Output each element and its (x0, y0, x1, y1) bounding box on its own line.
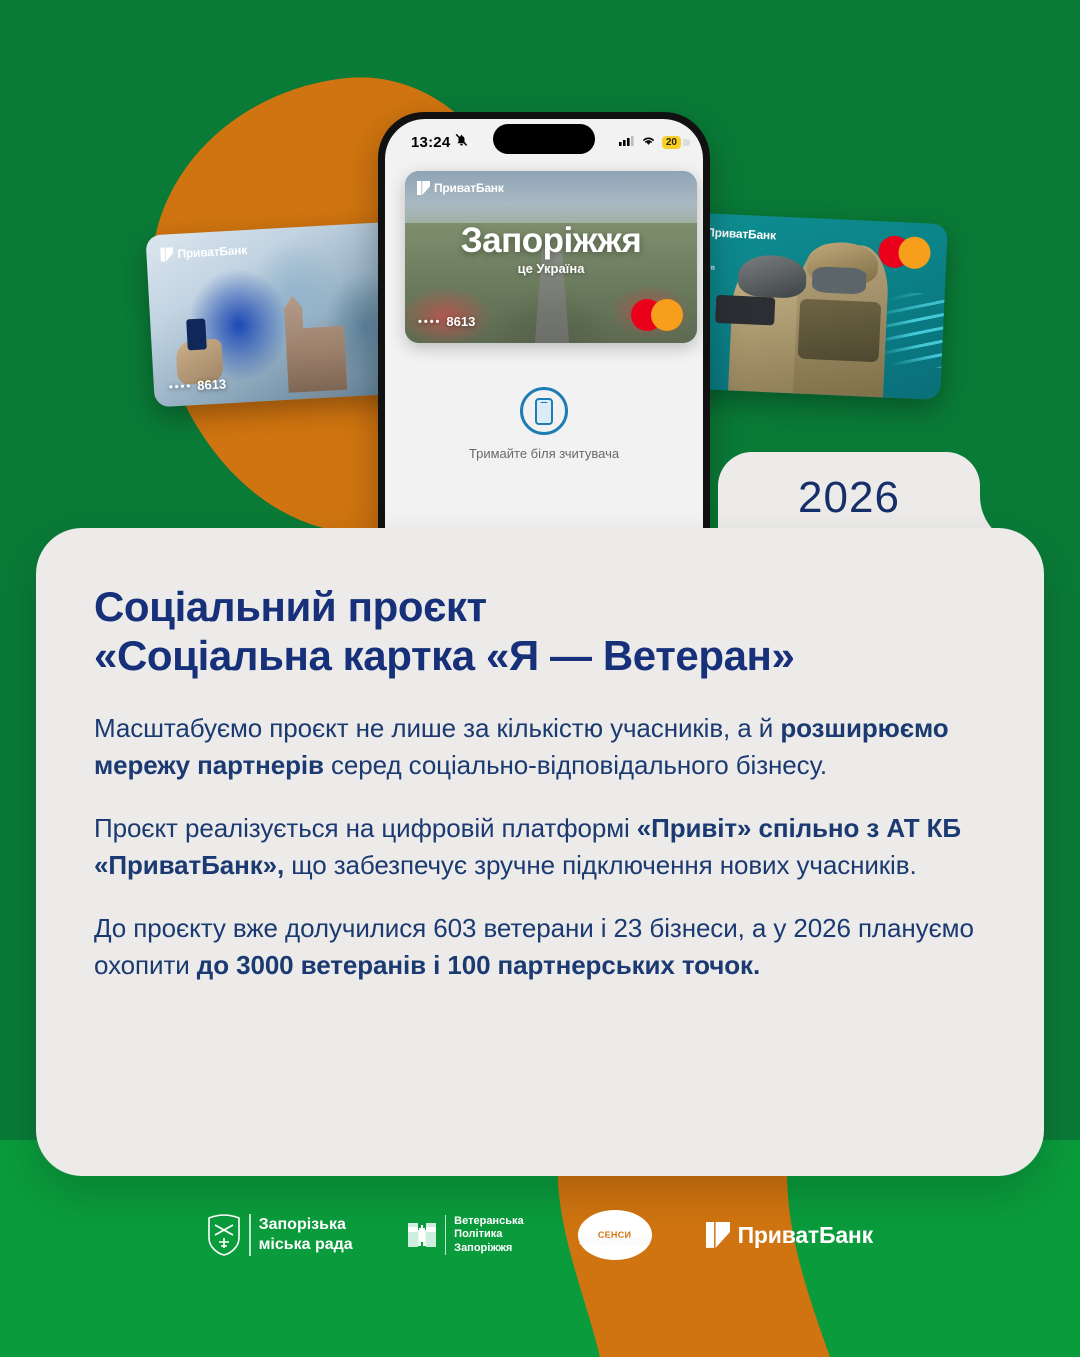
paragraph-2-run-1: Проєкт реалізується на цифровій платформ… (94, 813, 637, 843)
soldier-vest-graphic (797, 299, 881, 362)
nfc-hold-phone-icon (520, 387, 568, 435)
mastercard-yellow-circle (651, 299, 683, 331)
status-bar-left: 13:24 (411, 133, 468, 152)
privatbank-mark-icon (706, 1222, 730, 1248)
logo-line-2: Політика (454, 1228, 502, 1240)
logo-line-1: Ветеранська (454, 1215, 523, 1227)
bell-slash-icon (455, 133, 468, 152)
card-center-zaporizhzhia[interactable]: ПриватБанк Запоріжжя це Україна •••• 861… (405, 171, 697, 343)
status-time: 13:24 (411, 134, 450, 151)
wifi-icon (641, 133, 656, 151)
logo-divider (249, 1214, 251, 1256)
logo-veteran-policy[interactable]: Ветеранська Політика Запоріжжя (407, 1215, 524, 1255)
mastercard-yellow-circle (898, 236, 931, 269)
page-title-line2: «Соціальна картка «Я — Ветеран» (94, 632, 794, 679)
paragraph-2-run-3: що забезпечує зручне під­ключення нових … (284, 850, 916, 880)
privatbank-wordmark: ПриватБанк (434, 181, 504, 195)
phone-screen: 13:24 (385, 119, 703, 544)
drone-controller-graphic (715, 295, 776, 326)
nfc-prompt-label: Тримайте біля зчитувача (385, 446, 703, 461)
card-number-masked: •••• 8613 (418, 314, 475, 329)
page-title: Соціальний проєкт «Соціальна картка «Я —… (94, 582, 986, 680)
logo-line-1: Запорізька (259, 1216, 346, 1233)
soldier-face-mask-graphic (811, 266, 867, 295)
page-title-line1: Соціальний проєкт (94, 583, 487, 630)
logo-privatbank[interactable]: ПриватБанк (706, 1222, 873, 1249)
status-bar-right: 20 (619, 133, 681, 151)
content-card: Соціальний проєкт «Соціальна картка «Я —… (36, 528, 1044, 1176)
mastercard-logo (878, 235, 931, 269)
year-label: 2026 (798, 473, 900, 523)
privatbank-mark-icon (160, 247, 174, 262)
city-crest-icon (207, 1214, 241, 1256)
card-number-masked: •••• 8613 (168, 376, 226, 394)
nfc-prompt: Тримайте біля зчитувача (385, 387, 703, 461)
body-paragraph-3: До проєкту вже долучилися 603 ветерани і… (94, 910, 986, 984)
card-city-title: Запоріжжя (405, 223, 697, 258)
logo-line-3: Запоріжжя (454, 1242, 512, 1254)
phone-mockup: 13:24 (378, 112, 710, 544)
cellular-signal-icon (619, 133, 635, 151)
privatbank-logo: ПриватБанк (417, 181, 504, 195)
privatbank-wordmark: ПриватБанк (738, 1222, 873, 1249)
card-last4: 8613 (446, 314, 475, 329)
dynamic-island (493, 124, 595, 154)
body-paragraphs: Масштабуємо проєкт не лише за кількістю … (94, 710, 986, 983)
status-bar: 13:24 (385, 119, 703, 159)
paragraph-1-run-3: серед соціально-відпові­дального бізнесу… (324, 750, 827, 780)
body-paragraph-2: Проєкт реалізується на цифровій платформ… (94, 810, 986, 884)
paragraph-3-run-2: до 3000 ветеранів і 100 парт­нерських то… (197, 950, 760, 980)
footer-logos: Запорізька міська рада Ветеранська Політ… (0, 1200, 1080, 1270)
logo-zaporizhzhia-city-council[interactable]: Запорізька міська рада (207, 1214, 353, 1256)
mastercard-logo (631, 299, 683, 331)
body-paragraph-1: Масштабуємо проєкт не лише за кількістю … (94, 710, 986, 784)
soldier-helmet-left-icon (738, 254, 808, 299)
masked-dots: •••• (418, 316, 441, 328)
card-right[interactable]: ПриватБанк АГАН очолив АДАН (668, 212, 948, 400)
privatbank-wordmark: ПриватБанк (706, 225, 776, 242)
paragraph-1-run-1: Масштабуємо проєкт не лише за кількістю … (94, 713, 780, 743)
nfc-phone-glyph (535, 398, 553, 425)
logo-divider (445, 1215, 447, 1255)
logo-line-2: міська рада (259, 1236, 353, 1253)
card-last4: 8613 (197, 376, 227, 393)
logo-text-veteran-policy: Ветеранська Політика Запоріжжя (454, 1215, 523, 1255)
masked-dots: •••• (169, 380, 193, 393)
logo-text-city-council: Запорізька міська рада (259, 1215, 353, 1254)
sensy-line-2: ЗАПОРІЖЖЯ (579, 1236, 650, 1248)
trident-book-icon (407, 1218, 437, 1252)
card-city-subtitle: це Україна (405, 261, 697, 276)
poster-stage: ПриватБанк •••• 8613 ПриватБанк АГАН очо… (0, 0, 1080, 1357)
logo-sensy-zaporizhzhia[interactable]: СЕНСИ ЗАПОРІЖЖЯ (578, 1210, 652, 1260)
privatbank-mark-icon (417, 181, 430, 195)
battery-indicator: 20 (662, 136, 681, 149)
card-title-block: Запоріжжя це Україна (405, 223, 697, 276)
